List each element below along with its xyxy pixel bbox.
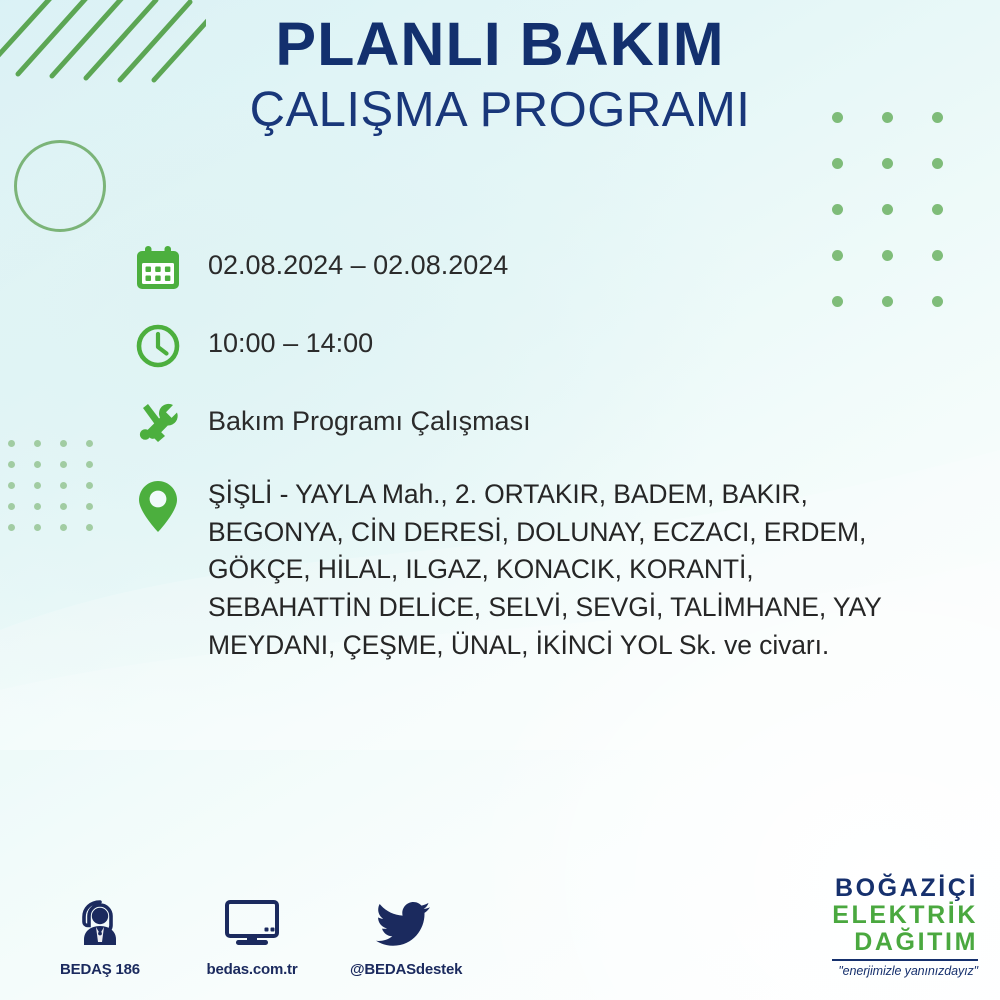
contact-website-label: bedas.com.tr	[198, 961, 306, 978]
contact-phone[interactable]: BEDAŞ 186	[46, 893, 154, 978]
brand-tagline: "enerjimizle yanınızdayız"	[832, 964, 978, 978]
brand-line-dagitim: DAĞITIM	[832, 929, 978, 956]
time-row: 10:00 – 14:00	[132, 318, 962, 374]
map-pin-icon	[132, 474, 208, 534]
brand-divider	[832, 959, 978, 961]
work-type-row: Bakım Programı Çalışması	[132, 396, 962, 452]
contact-phone-label: BEDAŞ 186	[46, 961, 154, 978]
work-type-value: Bakım Programı Çalışması	[208, 396, 531, 440]
page-title: PLANLI BAKIM	[0, 12, 1000, 76]
monitor-icon	[198, 893, 306, 949]
brand-line-elektrik: ELEKTRİK	[832, 902, 978, 929]
time-range-value: 10:00 – 14:00	[208, 318, 373, 362]
tools-icon	[132, 396, 208, 452]
footer-contacts: BEDAŞ 186 bedas.com.tr @BEDASdestek	[46, 893, 458, 978]
address-line: ŞİŞLİ - YAYLA Mah., 2. ORTAKIR, BADEM, B…	[208, 476, 882, 514]
page-subtitle: ÇALIŞMA PROGRAMI	[0, 82, 1000, 140]
date-range-value: 02.08.2024 – 02.08.2024	[208, 240, 508, 284]
clock-icon	[132, 318, 208, 374]
circle-outline-decoration	[14, 140, 106, 232]
address-line: MEYDANI, ÇEŞME, ÜNAL, İKİNCİ YOL Sk. ve …	[208, 627, 882, 665]
contact-website[interactable]: bedas.com.tr	[198, 893, 306, 978]
address-row: ŞİŞLİ - YAYLA Mah., 2. ORTAKIR, BADEM, B…	[132, 474, 962, 664]
calendar-icon	[132, 240, 208, 296]
address-value: ŞİŞLİ - YAYLA Mah., 2. ORTAKIR, BADEM, B…	[208, 474, 882, 664]
address-line: SEBAHATTİN DELİCE, SELVİ, SEVGİ, TALİMHA…	[208, 589, 882, 627]
poster-canvas: PLANLI BAKIM ÇALIŞMA PROGRAMI	[0, 0, 1000, 1000]
address-line: GÖKÇE, HİLAL, ILGAZ, KONACIK, KORANTİ,	[208, 551, 882, 589]
poster-header: PLANLI BAKIM ÇALIŞMA PROGRAMI	[0, 12, 1000, 140]
address-line: BEGONYA, CİN DERESİ, DOLUNAY, ECZACI, ER…	[208, 514, 882, 552]
bedas-logo: BOĞAZİÇİ ELEKTRİK DAĞITIM "enerjimizle y…	[832, 875, 978, 978]
brand-line-bogazici: BOĞAZİÇİ	[832, 875, 978, 902]
contact-twitter-label: @BEDASdestek	[350, 961, 458, 978]
date-row: 02.08.2024 – 02.08.2024	[132, 240, 962, 296]
contact-twitter[interactable]: @BEDASdestek	[350, 893, 458, 978]
support-headset-icon	[46, 893, 154, 949]
twitter-bird-icon	[350, 893, 458, 949]
dot-grid-left-decoration	[8, 440, 112, 545]
info-block: 02.08.2024 – 02.08.2024 10:00 – 14:00	[132, 240, 962, 664]
